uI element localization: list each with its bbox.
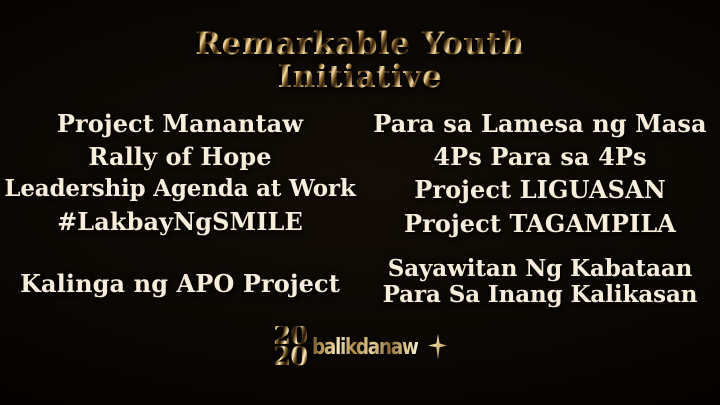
initiative-columns: Project Manantaw Rally of Hope Leadershi… <box>0 108 720 239</box>
initiative-item: Project Manantaw <box>57 108 303 139</box>
poster-title: Remarkable Youth Initiative <box>0 28 720 94</box>
initiative-bottom-row: Kalinga ng APO Project Sayawitan Ng Kaba… <box>0 256 720 308</box>
initiative-item: Sayawitan Ng Kabataan <box>388 256 693 282</box>
initiative-item: Kalinga ng APO Project <box>20 268 340 299</box>
initiative-column-right: Para sa Lamesa ng Masa 4Ps Para sa 4Ps P… <box>360 108 716 239</box>
initiative-item: Para Sa Inang Kalikasan <box>383 282 698 308</box>
sparkle-icon <box>427 334 447 360</box>
brand-logo: 20 20 balikdanaw <box>0 326 720 369</box>
logo-year-bottom: 20 <box>273 347 307 368</box>
initiative-item: Para sa Lamesa ng Masa <box>373 108 706 139</box>
initiative-column-left: Project Manantaw Rally of Hope Leadershi… <box>4 108 360 237</box>
initiative-bottom-right: Sayawitan Ng Kabataan Para Sa Inang Kali… <box>360 256 716 308</box>
poster-title-line-2: Initiative <box>0 61 720 94</box>
initiative-item: 4Ps Para sa 4Ps <box>433 141 646 172</box>
initiative-item: #LakbayNgSMILE <box>57 206 303 237</box>
initiative-item: Rally of Hope <box>88 141 271 172</box>
poster-canvas: Remarkable Youth Initiative Project Mana… <box>0 0 720 405</box>
logo-year-2020: 20 20 <box>273 326 307 369</box>
initiative-item: Leadership Agenda at Work <box>4 174 355 204</box>
logo-wordmark: balikdanaw <box>312 335 418 360</box>
initiative-bottom-left: Kalinga ng APO Project <box>4 256 360 299</box>
poster-title-line-1: Remarkable Youth <box>0 28 720 61</box>
initiative-item: Project TAGAMPILA <box>404 208 676 239</box>
initiative-item: Project LIGUASAN <box>414 174 666 205</box>
